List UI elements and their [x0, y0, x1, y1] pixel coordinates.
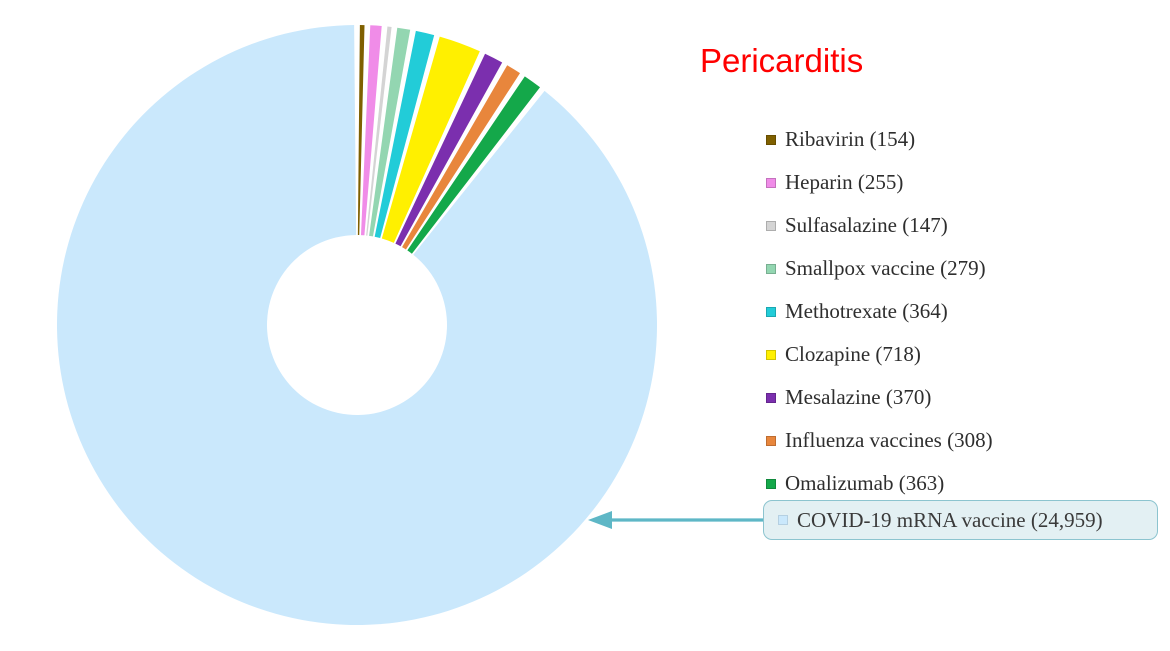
legend-swatch-sulfasalazine [766, 221, 776, 231]
legend-item-influenza-vaccines[interactable]: Influenza vaccines (308) [766, 419, 1166, 462]
legend-item-heparin[interactable]: Heparin (255) [766, 161, 1166, 204]
donut-slice-group [57, 25, 657, 625]
legend-item-clozapine[interactable]: Clozapine (718) [766, 333, 1166, 376]
legend-label-clozapine: Clozapine (718) [785, 344, 921, 365]
legend-swatch-smallpox-vaccine [766, 264, 776, 274]
legend-item-ribavirin[interactable]: Ribavirin (154) [766, 118, 1166, 161]
legend-label-methotrexate: Methotrexate (364) [785, 301, 948, 322]
legend-label-heparin: Heparin (255) [785, 172, 903, 193]
donut-chart-svg [0, 0, 720, 651]
legend-swatch-covid-19-mrna-vaccine [778, 515, 788, 525]
page-title: Pericarditis [700, 42, 863, 80]
legend-label-covid-19-mrna-vaccine: COVID-19 mRNA vaccine (24,959) [797, 510, 1103, 531]
legend-item-methotrexate[interactable]: Methotrexate (364) [766, 290, 1166, 333]
legend-item-smallpox-vaccine[interactable]: Smallpox vaccine (279) [766, 247, 1166, 290]
legend-label-mesalazine: Mesalazine (370) [785, 387, 931, 408]
legend-label-omalizumab: Omalizumab (363) [785, 473, 944, 494]
legend-swatch-influenza-vaccines [766, 436, 776, 446]
legend-swatch-clozapine [766, 350, 776, 360]
legend-item-covid-19-mrna-vaccine[interactable]: COVID-19 mRNA vaccine (24,959) [763, 500, 1158, 540]
legend-label-sulfasalazine: Sulfasalazine (147) [785, 215, 948, 236]
legend-item-omalizumab[interactable]: Omalizumab (363) [766, 462, 1166, 505]
legend-item-mesalazine[interactable]: Mesalazine (370) [766, 376, 1166, 419]
legend-swatch-mesalazine [766, 393, 776, 403]
donut-chart-page: Pericarditis Ribavirin (154)Heparin (255… [0, 0, 1170, 651]
legend-swatch-heparin [766, 178, 776, 188]
legend-label-ribavirin: Ribavirin (154) [785, 129, 915, 150]
donut-chart [0, 0, 720, 651]
legend-swatch-omalizumab [766, 479, 776, 489]
legend-swatch-methotrexate [766, 307, 776, 317]
legend-label-smallpox-vaccine: Smallpox vaccine (279) [785, 258, 986, 279]
legend-item-sulfasalazine[interactable]: Sulfasalazine (147) [766, 204, 1166, 247]
legend: Ribavirin (154)Heparin (255)Sulfasalazin… [766, 118, 1166, 505]
donut-slice-covid-19-mrna-vaccine[interactable] [57, 25, 657, 625]
legend-label-influenza-vaccines: Influenza vaccines (308) [785, 430, 993, 451]
legend-swatch-ribavirin [766, 135, 776, 145]
